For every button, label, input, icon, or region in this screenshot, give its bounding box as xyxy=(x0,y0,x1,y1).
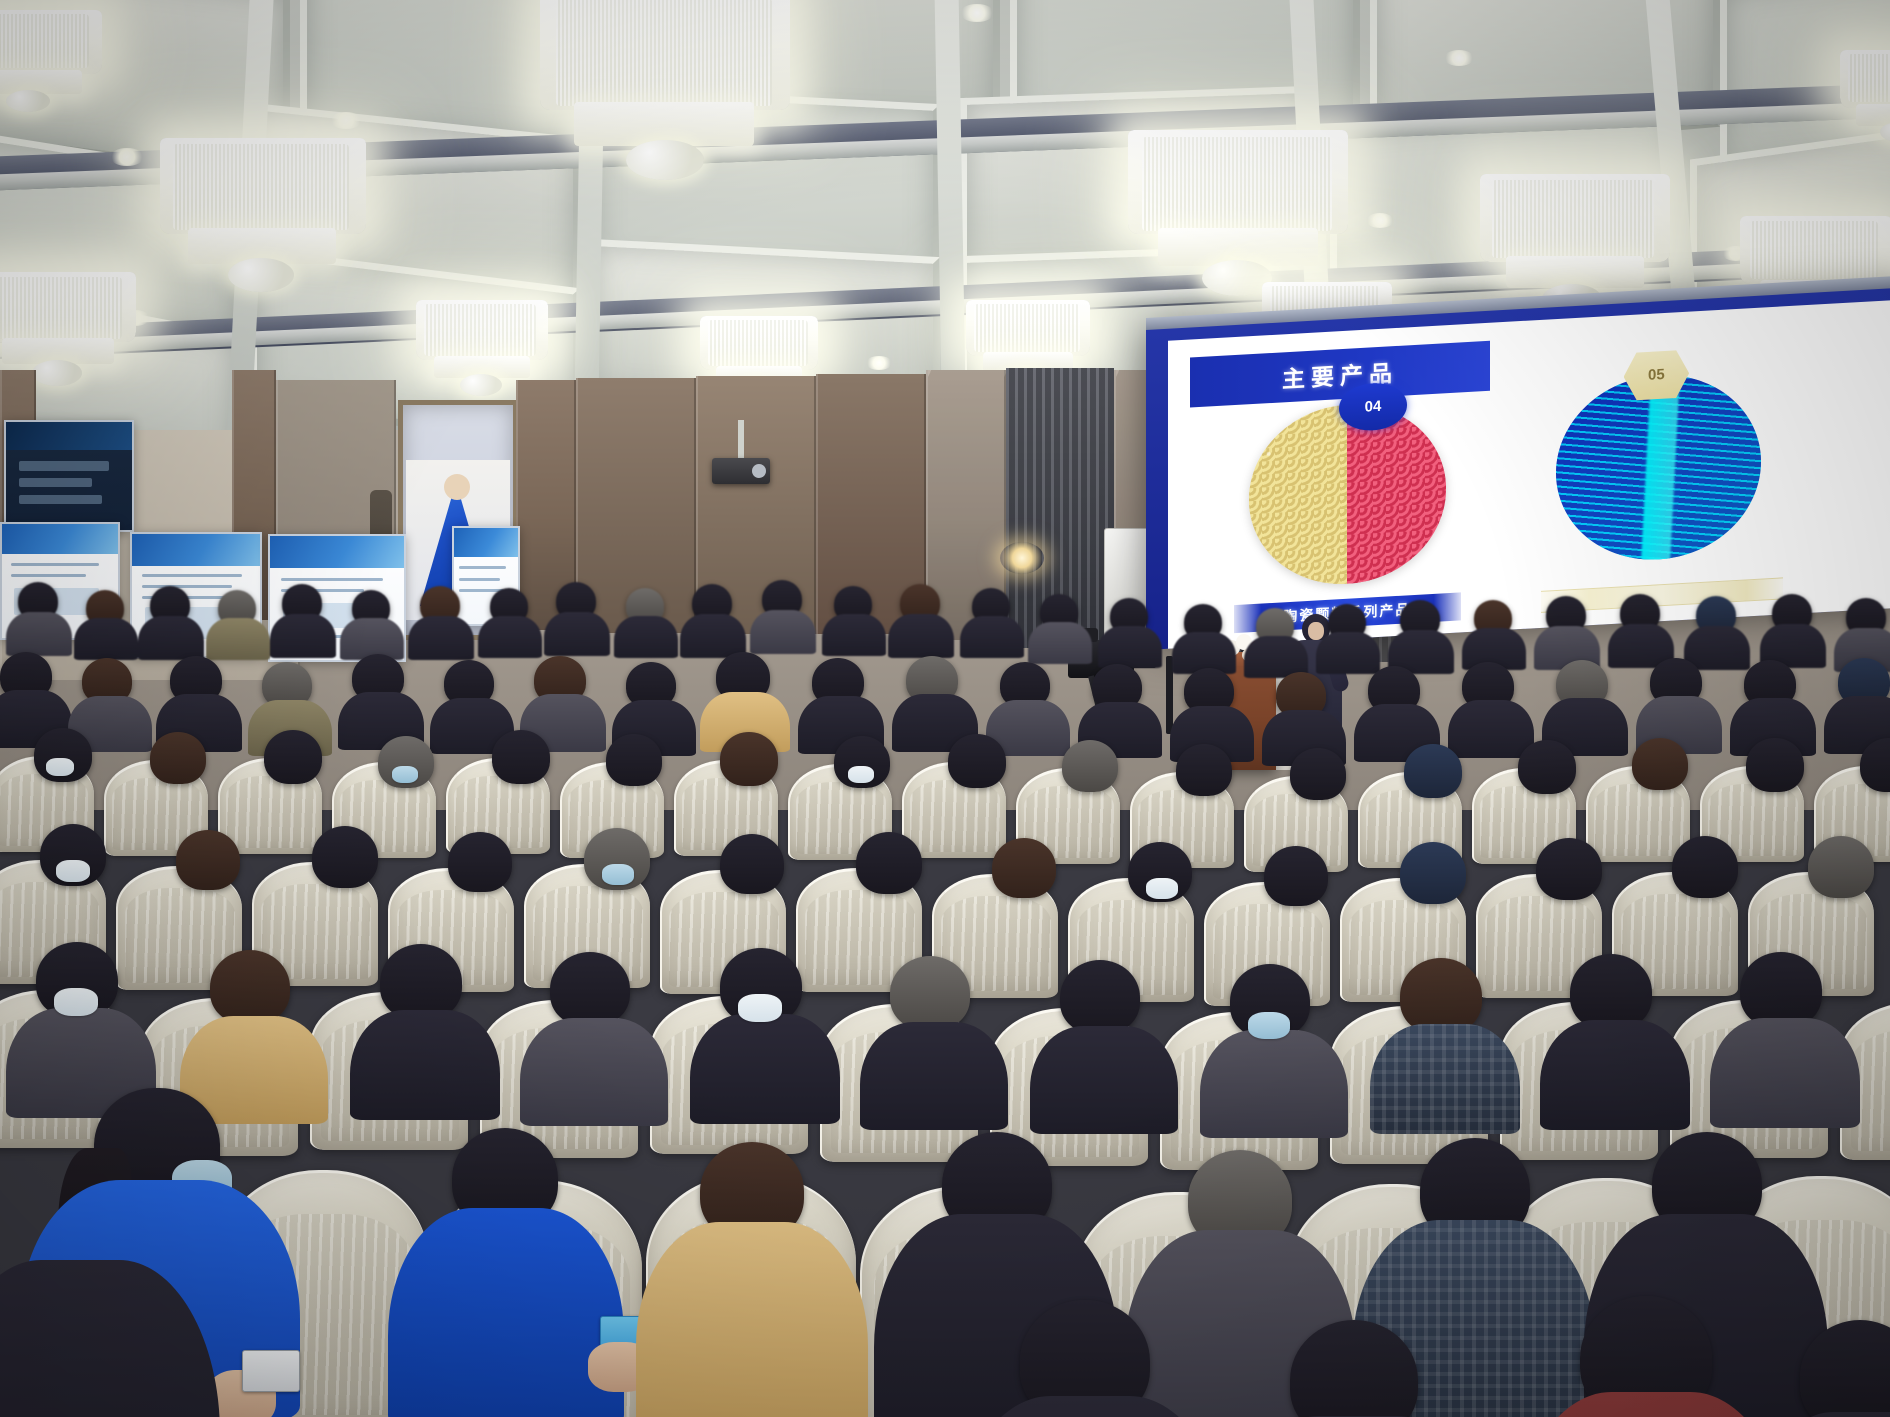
audience-seating xyxy=(0,560,1890,1417)
attendee-head xyxy=(1404,744,1462,798)
attendee-shoulders-tan xyxy=(636,1222,868,1417)
attendee-shoulders xyxy=(1098,626,1162,668)
attendee-head xyxy=(890,956,970,1030)
attendee-shoulders xyxy=(690,1014,840,1124)
attendee-shoulders xyxy=(680,614,746,658)
attendee-head xyxy=(1570,954,1652,1030)
attendee-shoulders xyxy=(74,618,138,660)
attendee-shoulders xyxy=(478,616,542,658)
attendee-head xyxy=(1518,740,1576,794)
recessed-downlight xyxy=(1722,246,1750,261)
attendee-head xyxy=(1740,952,1822,1028)
attendee-shoulders xyxy=(408,616,474,660)
attendee-head xyxy=(992,838,1056,898)
attendee-shoulders xyxy=(1684,626,1750,670)
attendee-head xyxy=(448,832,512,892)
attendee-head xyxy=(1264,846,1328,906)
recessed-downlight xyxy=(1160,178,1190,194)
attendee-shoulders xyxy=(822,614,886,656)
recessed-downlight xyxy=(1444,50,1474,66)
attendee-shoulders xyxy=(1200,1030,1348,1138)
conference-hall-photo: 主要产品 04 陶瓷颗粒系列产品 05 xyxy=(0,0,1890,1417)
attendee-head xyxy=(176,830,240,890)
face-mask xyxy=(848,766,874,783)
face-mask xyxy=(738,994,782,1022)
attendee-head xyxy=(1746,738,1804,792)
attendee-shoulders xyxy=(350,1010,500,1120)
attendee-shoulders xyxy=(6,612,72,656)
attendee-head xyxy=(1536,838,1602,900)
face-mask xyxy=(602,864,634,885)
attendee-head xyxy=(1632,738,1688,790)
recessed-downlight xyxy=(700,96,732,113)
attendee-head xyxy=(1672,836,1738,898)
recessed-downlight xyxy=(330,112,362,129)
face-mask xyxy=(54,988,98,1016)
recessed-downlight xyxy=(506,350,532,364)
attendee-shoulders xyxy=(614,616,678,658)
attendee-head xyxy=(264,730,322,784)
projector-lens xyxy=(752,464,766,478)
face-mask xyxy=(56,860,90,882)
projector-mount-arm xyxy=(738,420,744,460)
attendee-shoulders xyxy=(206,618,270,660)
smartphone xyxy=(242,1350,300,1392)
attendee-head xyxy=(1290,748,1346,800)
attendee-head xyxy=(380,944,462,1020)
attendee-head xyxy=(1400,842,1466,904)
recessed-downlight xyxy=(960,4,994,22)
attendee-shoulders xyxy=(960,616,1024,658)
attendee-head xyxy=(492,730,550,784)
attendee-head xyxy=(150,732,206,784)
attendee-head xyxy=(720,834,784,894)
poster-board xyxy=(4,420,134,532)
attendee-shoulders xyxy=(270,614,336,658)
attendee-shoulders xyxy=(1540,1020,1690,1130)
recessed-downlight xyxy=(120,310,150,326)
attendee-head xyxy=(550,952,630,1026)
attendee-shoulders xyxy=(1710,1018,1860,1128)
recessed-downlight xyxy=(866,356,892,370)
attendee-shoulders xyxy=(138,616,204,660)
attendee-head xyxy=(1400,958,1482,1034)
recessed-downlight xyxy=(110,148,144,166)
attendee-shoulders xyxy=(750,610,816,654)
attendee-shoulders xyxy=(1030,1026,1178,1134)
face-mask xyxy=(1248,1012,1290,1039)
face-mask xyxy=(1146,878,1178,899)
attendee-shoulders xyxy=(544,612,610,656)
slide-title-bar: 主要产品 xyxy=(1190,341,1490,407)
face-mask xyxy=(46,758,74,776)
attendee-head xyxy=(606,734,662,786)
attendee-shoulders xyxy=(1370,1024,1520,1134)
face-mask xyxy=(392,766,418,783)
attendee-head xyxy=(210,950,290,1024)
attendee-shoulders xyxy=(1448,700,1534,758)
attendee-head xyxy=(856,832,922,894)
attendee-head xyxy=(1062,740,1118,792)
attendee-shoulders-blue xyxy=(388,1208,624,1417)
attendee-shoulders xyxy=(1028,622,1092,664)
attendee-head xyxy=(312,826,378,888)
attendee-shoulders xyxy=(520,1018,668,1126)
banner-figure-head xyxy=(444,474,470,500)
attendee-head xyxy=(1808,836,1874,898)
attendee-head xyxy=(1176,744,1232,796)
attendee-head xyxy=(1060,960,1140,1034)
attendee-head xyxy=(720,732,778,786)
recessed-downlight xyxy=(1366,213,1394,228)
attendee-shoulders xyxy=(888,614,954,658)
product-item-05: 05 xyxy=(1556,369,1761,565)
attendee-shoulders xyxy=(860,1022,1008,1130)
attendee-shoulders xyxy=(1316,632,1380,674)
attendee-head xyxy=(948,734,1006,788)
